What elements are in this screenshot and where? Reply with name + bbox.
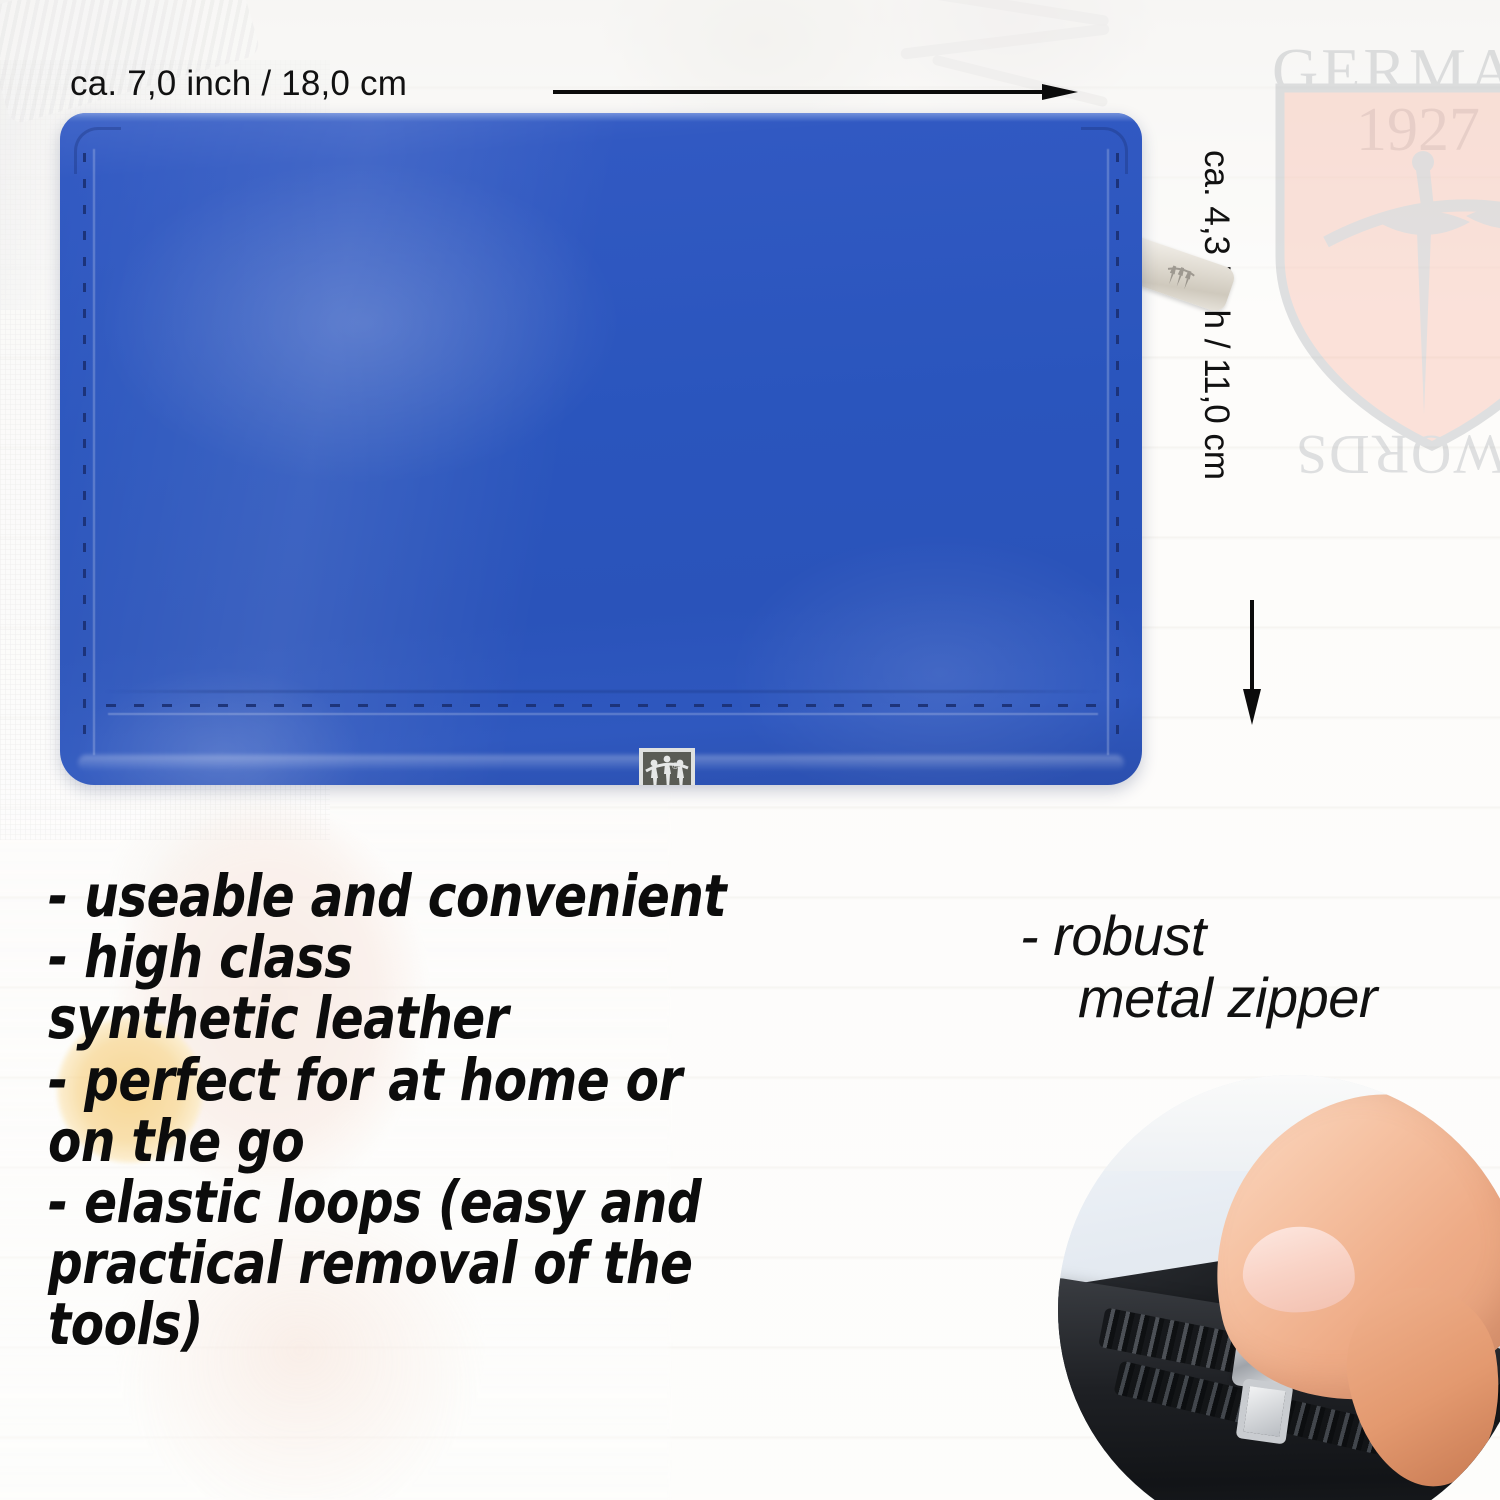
watermark-germany-text: GERMANY: [1272, 34, 1500, 108]
feature-item: - high class: [48, 927, 829, 988]
case-seam-left: [93, 149, 95, 755]
feature-item: - useable and convenient: [48, 866, 829, 927]
case-stitching-right: [1116, 153, 1119, 749]
width-dimension-label: ca. 7,0 inch / 18,0 cm: [70, 64, 407, 104]
case-seam-bottom: [108, 713, 1098, 715]
feature-item: - perfect for at home or: [48, 1050, 829, 1111]
feature-item: - robust: [1020, 905, 1490, 967]
case-corner-top-left: [74, 127, 121, 174]
case-sheen: [60, 113, 1142, 785]
background-shoelace: [900, 23, 1110, 60]
feature-item: metal zipper: [1020, 967, 1490, 1029]
svg-text:1927: 1927: [1356, 96, 1480, 164]
feature-item: practical removal of the: [48, 1233, 829, 1294]
case-stitching-left: [83, 153, 86, 749]
case-fold-line: [104, 690, 1102, 693]
watermark-shield-swords-icon: 1927: [1266, 10, 1500, 480]
case-stitching-bottom: [106, 704, 1098, 707]
brand-watermark: GERMANY 1927 3 SWORDS: [1266, 10, 1500, 480]
background-shoelace: [881, 0, 1110, 27]
inset-thumbnail: [1241, 1224, 1357, 1316]
feature-item: on the go: [48, 1111, 829, 1172]
blue-leather-case: ®: [60, 113, 1142, 785]
watermark-3swords-text: 3 SWORDS: [1294, 422, 1500, 486]
svg-text:®: ®: [672, 761, 679, 771]
feature-list-right: - robust metal zipper: [1020, 905, 1490, 1028]
height-dimension-arrow-icon: [1243, 600, 1261, 725]
zipper-detail-inset-photo: [1058, 1075, 1500, 1500]
three-swords-shield-emblem-icon: ®: [638, 747, 696, 785]
case-corner-top-right: [1081, 127, 1128, 174]
width-dimension-arrow-icon: [553, 84, 1078, 100]
case-bottom-highlight: [78, 755, 1124, 771]
case-seam-right: [1107, 149, 1109, 755]
feature-item: synthetic leather: [48, 988, 829, 1049]
feature-list-left: - useable and convenient - high class sy…: [48, 866, 829, 1356]
background-zipper-texture: [0, 0, 262, 126]
infographic-canvas: GERMANY 1927 3 SWORDS ca. 7,0 inch / 18,…: [0, 0, 1500, 1500]
feature-item: tools): [48, 1294, 829, 1355]
feature-item: - elastic loops (easy and: [48, 1172, 829, 1233]
